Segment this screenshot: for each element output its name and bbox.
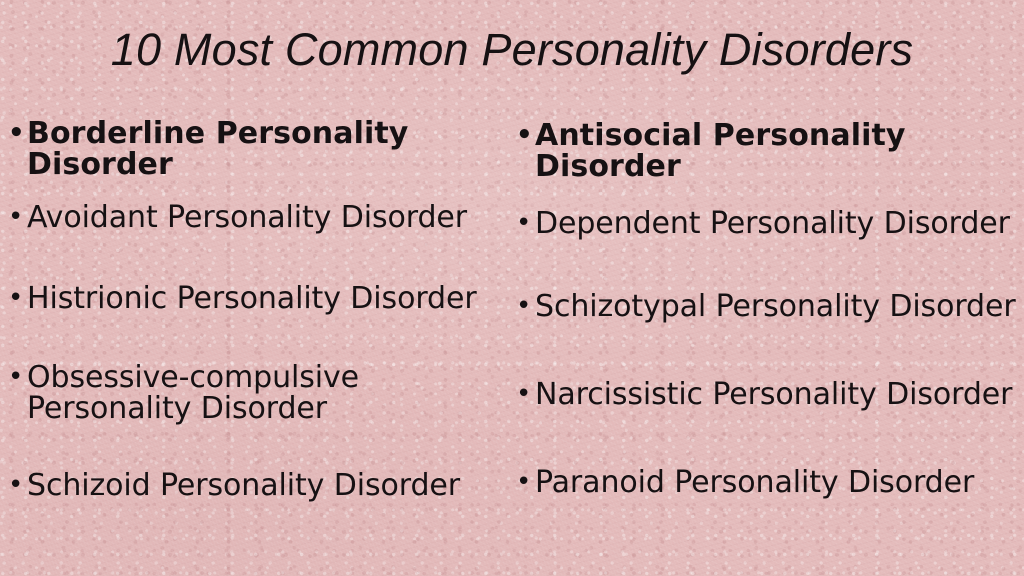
list-item: • Borderline Personality Disorder <box>8 118 513 180</box>
bullet-point-icon: • <box>8 283 27 314</box>
list-item-label: Borderline Personality Disorder <box>27 118 513 180</box>
list-item: • Obsessive-compulsive Personality Disor… <box>8 362 359 424</box>
list-item: • Avoidant Personality Disorder <box>8 202 467 233</box>
list-item-label: Paranoid Personality Disorder <box>535 467 974 498</box>
list-item: • Narcissistic Personality Disorder <box>516 379 1012 410</box>
bullet-point-icon: • <box>516 120 535 151</box>
bullet-point-icon: • <box>516 467 535 498</box>
page-title: 10 Most Common Personality Disorders <box>0 22 1024 78</box>
list-item-label: Schizotypal Personality Disorder <box>535 291 1016 322</box>
bullet-point-icon: • <box>8 118 27 149</box>
list-item: • Schizotypal Personality Disorder <box>516 291 1016 322</box>
bullet-point-icon: • <box>8 362 27 393</box>
bullet-point-icon: • <box>516 208 535 239</box>
list-item-label: Schizoid Personality Disorder <box>27 470 460 501</box>
list-item-label: Antisocial Personality Disorder <box>535 120 1021 182</box>
list-item: • Paranoid Personality Disorder <box>516 467 974 498</box>
bullet-column-right: • Antisocial Personality Disorder • Depe… <box>516 112 1021 552</box>
bullet-point-icon: • <box>516 379 535 410</box>
bullet-point-icon: • <box>8 202 27 233</box>
bullet-point-icon: • <box>8 470 27 501</box>
list-item: • Histrionic Personality Disorder <box>8 283 477 314</box>
list-item: • Schizoid Personality Disorder <box>8 470 460 501</box>
presentation-slide: 10 Most Common Personality Disorders • B… <box>0 0 1024 576</box>
list-item-label: Obsessive-compulsive Personality Disorde… <box>27 362 359 424</box>
list-item: • Antisocial Personality Disorder <box>516 120 1021 182</box>
bullet-column-left: • Borderline Personality Disorder • Avoi… <box>8 112 513 552</box>
list-item-label: Avoidant Personality Disorder <box>27 202 467 233</box>
bullet-point-icon: • <box>516 291 535 322</box>
bullet-columns: • Borderline Personality Disorder • Avoi… <box>0 112 1024 552</box>
list-item: • Dependent Personality Disorder <box>516 208 1010 239</box>
list-item-label: Dependent Personality Disorder <box>535 208 1010 239</box>
list-item-label: Narcissistic Personality Disorder <box>535 379 1012 410</box>
list-item-label: Histrionic Personality Disorder <box>27 283 477 314</box>
